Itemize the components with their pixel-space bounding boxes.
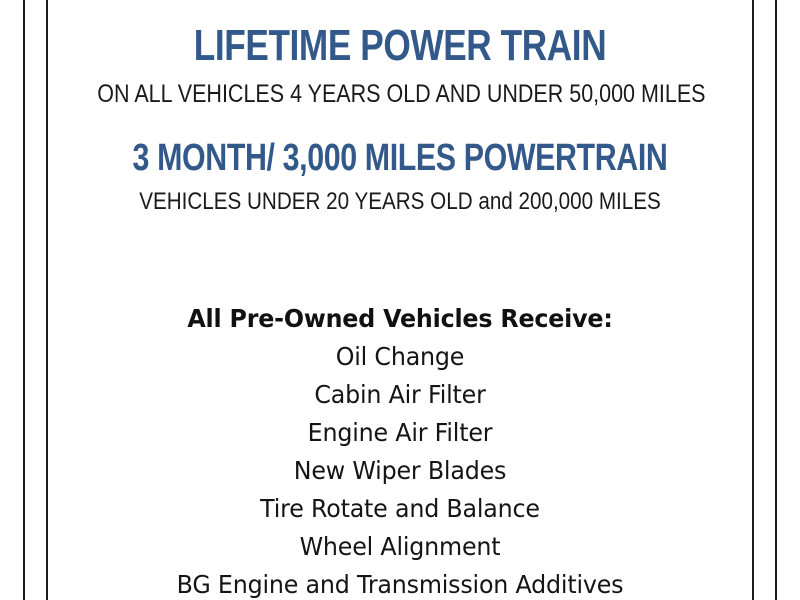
flyer-canvas: LIFETIME POWER TRAIN ON ALL VEHICLES 4 Y… [0, 0, 800, 600]
offer-block-three-month-powertrain: 3 MONTH/ 3,000 MILES POWERTRAIN VEHICLES… [48, 139, 752, 214]
frame-rule-outer-left [23, 0, 25, 600]
services-section: All Pre-Owned Vehicles Receive: Oil Chan… [48, 300, 752, 600]
service-item: Cabin Air Filter [66, 376, 735, 414]
offer-headline-three-month-powertrain: 3 MONTH/ 3,000 MILES POWERTRAIN [118, 139, 681, 177]
service-item: Wheel Alignment [66, 528, 735, 566]
service-item: BG Engine and Transmission Additives [66, 566, 735, 600]
frame-rule-outer-right [775, 0, 777, 600]
offer-subline-three-month-powertrain: VEHICLES UNDER 20 YEARS OLD and 200,000 … [97, 190, 702, 214]
offer-subline-lifetime-powertrain: ON ALL VEHICLES 4 YEARS OLD AND UNDER 50… [97, 82, 702, 107]
frame-rule-inner-right [752, 0, 754, 600]
service-item: Tire Rotate and Balance [66, 490, 735, 528]
offer-headline-lifetime-powertrain: LIFETIME POWER TRAIN [118, 24, 681, 68]
offer-block-lifetime-powertrain: LIFETIME POWER TRAIN ON ALL VEHICLES 4 Y… [48, 24, 752, 107]
service-item: Oil Change [66, 338, 735, 376]
service-item: Engine Air Filter [66, 414, 735, 452]
service-item: New Wiper Blades [66, 452, 735, 490]
services-heading: All Pre-Owned Vehicles Receive: [66, 300, 735, 338]
